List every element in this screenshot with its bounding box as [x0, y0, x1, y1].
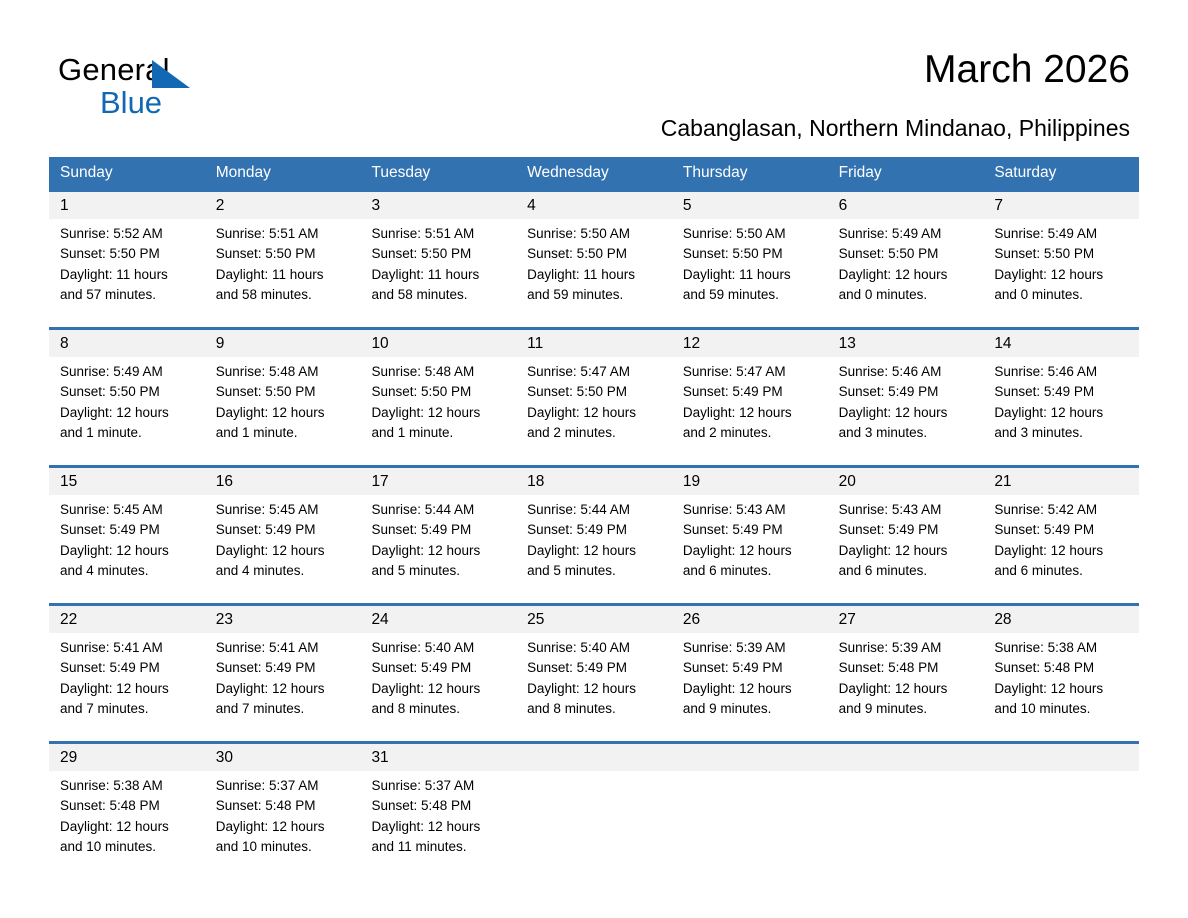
daylight-text-line1: Daylight: 12 hours: [60, 403, 194, 423]
day-number: 18: [527, 468, 661, 495]
calendar-day-cell[interactable]: 14 Sunrise: 5:46 AM Sunset: 5:49 PM Dayl…: [983, 330, 1139, 465]
daylight-text-line1: Daylight: 12 hours: [216, 679, 350, 699]
sunset-text: Sunset: 5:50 PM: [371, 244, 505, 264]
sunset-text: Sunset: 5:48 PM: [994, 658, 1128, 678]
day-number: 9: [216, 330, 350, 357]
sunset-text: Sunset: 5:49 PM: [216, 520, 350, 540]
daylight-text-line1: Daylight: 12 hours: [683, 541, 817, 561]
page-title: March 2026: [924, 48, 1130, 92]
daylight-text-line2: and 6 minutes.: [994, 561, 1128, 581]
sunset-text: Sunset: 5:50 PM: [683, 244, 817, 264]
day-number: [527, 744, 661, 771]
calendar-day-cell[interactable]: 15 Sunrise: 5:45 AM Sunset: 5:49 PM Dayl…: [49, 468, 205, 603]
sunrise-text: Sunrise: 5:49 AM: [994, 224, 1128, 244]
calendar-day-cell[interactable]: 10 Sunrise: 5:48 AM Sunset: 5:50 PM Dayl…: [360, 330, 516, 465]
calendar-day-cell[interactable]: 22 Sunrise: 5:41 AM Sunset: 5:49 PM Dayl…: [49, 606, 205, 741]
sunrise-text: Sunrise: 5:40 AM: [371, 638, 505, 658]
daylight-text-line1: Daylight: 11 hours: [527, 265, 661, 285]
weekday-header-friday: Friday: [828, 157, 984, 189]
generalblue-logo[interactable]: General Blue: [58, 52, 258, 122]
day-number: 25: [527, 606, 661, 633]
sunrise-text: Sunrise: 5:47 AM: [683, 362, 817, 382]
daylight-text-line1: Daylight: 12 hours: [371, 541, 505, 561]
calendar-day-cell[interactable]: 8 Sunrise: 5:49 AM Sunset: 5:50 PM Dayli…: [49, 330, 205, 465]
calendar-day-cell[interactable]: 21 Sunrise: 5:42 AM Sunset: 5:49 PM Dayl…: [983, 468, 1139, 603]
day-number: 27: [839, 606, 973, 633]
calendar-day-cell[interactable]: 18 Sunrise: 5:44 AM Sunset: 5:49 PM Dayl…: [516, 468, 672, 603]
sunrise-text: Sunrise: 5:46 AM: [839, 362, 973, 382]
daylight-text-line2: and 3 minutes.: [839, 423, 973, 443]
calendar-day-cell[interactable]: 29 Sunrise: 5:38 AM Sunset: 5:48 PM Dayl…: [49, 744, 205, 870]
daylight-text-line2: and 10 minutes.: [994, 699, 1128, 719]
daylight-text-line2: and 59 minutes.: [527, 285, 661, 305]
logo-triangle-icon: [152, 60, 190, 88]
daylight-text-line2: and 9 minutes.: [839, 699, 973, 719]
sunrise-text: Sunrise: 5:39 AM: [683, 638, 817, 658]
daylight-text-line1: Daylight: 12 hours: [371, 403, 505, 423]
sunrise-text: Sunrise: 5:51 AM: [371, 224, 505, 244]
daylight-text-line1: Daylight: 12 hours: [60, 541, 194, 561]
daylight-text-line1: Daylight: 12 hours: [527, 541, 661, 561]
calendar-day-cell[interactable]: 28 Sunrise: 5:38 AM Sunset: 5:48 PM Dayl…: [983, 606, 1139, 741]
day-number: 5: [683, 192, 817, 219]
daylight-text-line2: and 6 minutes.: [839, 561, 973, 581]
sunset-text: Sunset: 5:49 PM: [994, 520, 1128, 540]
daylight-text-line2: and 58 minutes.: [216, 285, 350, 305]
daylight-text-line2: and 59 minutes.: [683, 285, 817, 305]
day-number: [683, 744, 817, 771]
sunrise-text: Sunrise: 5:48 AM: [216, 362, 350, 382]
sunrise-text: Sunrise: 5:42 AM: [994, 500, 1128, 520]
sunset-text: Sunset: 5:49 PM: [683, 382, 817, 402]
day-number: 24: [371, 606, 505, 633]
daylight-text-line2: and 1 minute.: [216, 423, 350, 443]
calendar-week-row: 29 Sunrise: 5:38 AM Sunset: 5:48 PM Dayl…: [49, 741, 1139, 870]
sunset-text: Sunset: 5:50 PM: [60, 382, 194, 402]
sunset-text: Sunset: 5:49 PM: [60, 520, 194, 540]
daylight-text-line1: Daylight: 12 hours: [683, 403, 817, 423]
calendar-day-cell-empty: [828, 744, 984, 870]
sunset-text: Sunset: 5:48 PM: [371, 796, 505, 816]
daylight-text-line2: and 8 minutes.: [371, 699, 505, 719]
sunset-text: Sunset: 5:49 PM: [994, 382, 1128, 402]
daylight-text-line1: Daylight: 12 hours: [371, 679, 505, 699]
day-number: 12: [683, 330, 817, 357]
day-number: 19: [683, 468, 817, 495]
day-number: 2: [216, 192, 350, 219]
daylight-text-line1: Daylight: 12 hours: [994, 541, 1128, 561]
sunrise-text: Sunrise: 5:50 AM: [527, 224, 661, 244]
sunrise-text: Sunrise: 5:43 AM: [683, 500, 817, 520]
sunset-text: Sunset: 5:49 PM: [839, 520, 973, 540]
daylight-text-line2: and 5 minutes.: [527, 561, 661, 581]
sunset-text: Sunset: 5:50 PM: [527, 244, 661, 264]
calendar-day-cell[interactable]: 9 Sunrise: 5:48 AM Sunset: 5:50 PM Dayli…: [205, 330, 361, 465]
daylight-text-line1: Daylight: 12 hours: [994, 403, 1128, 423]
calendar-day-cell[interactable]: 19 Sunrise: 5:43 AM Sunset: 5:49 PM Dayl…: [672, 468, 828, 603]
daylight-text-line1: Daylight: 12 hours: [839, 541, 973, 561]
daylight-text-line1: Daylight: 11 hours: [216, 265, 350, 285]
calendar-day-cell[interactable]: 5 Sunrise: 5:50 AM Sunset: 5:50 PM Dayli…: [672, 192, 828, 327]
sunset-text: Sunset: 5:50 PM: [994, 244, 1128, 264]
sunset-text: Sunset: 5:50 PM: [60, 244, 194, 264]
daylight-text-line1: Daylight: 11 hours: [60, 265, 194, 285]
daylight-text-line2: and 1 minute.: [60, 423, 194, 443]
day-number: 16: [216, 468, 350, 495]
daylight-text-line2: and 6 minutes.: [683, 561, 817, 581]
calendar-day-cell[interactable]: 7 Sunrise: 5:49 AM Sunset: 5:50 PM Dayli…: [983, 192, 1139, 327]
calendar-day-cell[interactable]: 20 Sunrise: 5:43 AM Sunset: 5:49 PM Dayl…: [828, 468, 984, 603]
calendar-day-cell[interactable]: 11 Sunrise: 5:47 AM Sunset: 5:50 PM Dayl…: [516, 330, 672, 465]
sunrise-text: Sunrise: 5:49 AM: [839, 224, 973, 244]
daylight-text-line1: Daylight: 12 hours: [527, 679, 661, 699]
sunrise-text: Sunrise: 5:40 AM: [527, 638, 661, 658]
daylight-text-line2: and 7 minutes.: [60, 699, 194, 719]
calendar-week-row: 8 Sunrise: 5:49 AM Sunset: 5:50 PM Dayli…: [49, 327, 1139, 465]
day-number: 7: [994, 192, 1128, 219]
day-number: 17: [371, 468, 505, 495]
calendar-day-cell[interactable]: 27 Sunrise: 5:39 AM Sunset: 5:48 PM Dayl…: [828, 606, 984, 741]
calendar-day-cell-empty: [983, 744, 1139, 870]
daylight-text-line2: and 57 minutes.: [60, 285, 194, 305]
sunset-text: Sunset: 5:50 PM: [527, 382, 661, 402]
daylight-text-line2: and 1 minute.: [371, 423, 505, 443]
sunrise-text: Sunrise: 5:45 AM: [60, 500, 194, 520]
calendar-day-cell[interactable]: 3 Sunrise: 5:51 AM Sunset: 5:50 PM Dayli…: [360, 192, 516, 327]
day-number: 31: [371, 744, 505, 771]
sunset-text: Sunset: 5:49 PM: [371, 658, 505, 678]
daylight-text-line2: and 0 minutes.: [839, 285, 973, 305]
daylight-text-line2: and 9 minutes.: [683, 699, 817, 719]
weekday-header-monday: Monday: [205, 157, 361, 189]
weekday-header-row: Sunday Monday Tuesday Wednesday Thursday…: [49, 157, 1139, 189]
sunrise-text: Sunrise: 5:41 AM: [216, 638, 350, 658]
daylight-text-line1: Daylight: 12 hours: [683, 679, 817, 699]
sunset-text: Sunset: 5:50 PM: [216, 244, 350, 264]
sunset-text: Sunset: 5:50 PM: [216, 382, 350, 402]
calendar-day-cell[interactable]: 31 Sunrise: 5:37 AM Sunset: 5:48 PM Dayl…: [360, 744, 516, 870]
calendar-day-cell[interactable]: 25 Sunrise: 5:40 AM Sunset: 5:49 PM Dayl…: [516, 606, 672, 741]
daylight-text-line1: Daylight: 12 hours: [371, 817, 505, 837]
daylight-text-line2: and 8 minutes.: [527, 699, 661, 719]
page-header: General Blue March 2026 Cabanglasan, Nor…: [0, 0, 1188, 155]
weekday-header-wednesday: Wednesday: [516, 157, 672, 189]
calendar-day-cell[interactable]: 13 Sunrise: 5:46 AM Sunset: 5:49 PM Dayl…: [828, 330, 984, 465]
daylight-text-line1: Daylight: 12 hours: [839, 265, 973, 285]
daylight-text-line2: and 5 minutes.: [371, 561, 505, 581]
daylight-text-line1: Daylight: 12 hours: [839, 403, 973, 423]
day-number: 20: [839, 468, 973, 495]
day-number: 3: [371, 192, 505, 219]
sunrise-text: Sunrise: 5:48 AM: [371, 362, 505, 382]
sunset-text: Sunset: 5:50 PM: [839, 244, 973, 264]
sunrise-text: Sunrise: 5:41 AM: [60, 638, 194, 658]
sunset-text: Sunset: 5:49 PM: [683, 520, 817, 540]
daylight-text-line1: Daylight: 12 hours: [216, 541, 350, 561]
sunrise-text: Sunrise: 5:39 AM: [839, 638, 973, 658]
sunrise-text: Sunrise: 5:46 AM: [994, 362, 1128, 382]
daylight-text-line2: and 2 minutes.: [527, 423, 661, 443]
sunrise-text: Sunrise: 5:37 AM: [216, 776, 350, 796]
sunrise-text: Sunrise: 5:38 AM: [60, 776, 194, 796]
calendar-table: Sunday Monday Tuesday Wednesday Thursday…: [49, 157, 1139, 870]
daylight-text-line1: Daylight: 11 hours: [371, 265, 505, 285]
sunrise-text: Sunrise: 5:43 AM: [839, 500, 973, 520]
day-number: 23: [216, 606, 350, 633]
day-number: 21: [994, 468, 1128, 495]
calendar-day-cell-empty: [672, 744, 828, 870]
daylight-text-line2: and 11 minutes.: [371, 837, 505, 857]
calendar-day-cell-empty: [516, 744, 672, 870]
daylight-text-line2: and 10 minutes.: [216, 837, 350, 857]
day-number: 30: [216, 744, 350, 771]
weekday-header-sunday: Sunday: [49, 157, 205, 189]
sunrise-text: Sunrise: 5:44 AM: [371, 500, 505, 520]
calendar-week-row: 1 Sunrise: 5:52 AM Sunset: 5:50 PM Dayli…: [49, 189, 1139, 327]
sunset-text: Sunset: 5:48 PM: [60, 796, 194, 816]
calendar-week-row: 15 Sunrise: 5:45 AM Sunset: 5:49 PM Dayl…: [49, 465, 1139, 603]
calendar-day-cell[interactable]: 26 Sunrise: 5:39 AM Sunset: 5:49 PM Dayl…: [672, 606, 828, 741]
sunrise-text: Sunrise: 5:47 AM: [527, 362, 661, 382]
sunrise-text: Sunrise: 5:45 AM: [216, 500, 350, 520]
daylight-text-line1: Daylight: 12 hours: [994, 679, 1128, 699]
sunrise-text: Sunrise: 5:50 AM: [683, 224, 817, 244]
day-number: 22: [60, 606, 194, 633]
sunset-text: Sunset: 5:49 PM: [371, 520, 505, 540]
calendar-day-cell[interactable]: 23 Sunrise: 5:41 AM Sunset: 5:49 PM Dayl…: [205, 606, 361, 741]
day-number: 28: [994, 606, 1128, 633]
calendar-day-cell[interactable]: 4 Sunrise: 5:50 AM Sunset: 5:50 PM Dayli…: [516, 192, 672, 327]
daylight-text-line1: Daylight: 12 hours: [994, 265, 1128, 285]
daylight-text-line1: Daylight: 12 hours: [216, 403, 350, 423]
day-number: 8: [60, 330, 194, 357]
weekday-header-tuesday: Tuesday: [360, 157, 516, 189]
sunset-text: Sunset: 5:48 PM: [216, 796, 350, 816]
weekday-header-thursday: Thursday: [672, 157, 828, 189]
calendar-day-cell[interactable]: 24 Sunrise: 5:40 AM Sunset: 5:49 PM Dayl…: [360, 606, 516, 741]
daylight-text-line2: and 58 minutes.: [371, 285, 505, 305]
day-number: 26: [683, 606, 817, 633]
sunset-text: Sunset: 5:49 PM: [527, 520, 661, 540]
calendar-day-cell[interactable]: 1 Sunrise: 5:52 AM Sunset: 5:50 PM Dayli…: [49, 192, 205, 327]
daylight-text-line2: and 4 minutes.: [60, 561, 194, 581]
day-number: [994, 744, 1128, 771]
day-number: 4: [527, 192, 661, 219]
weekday-header-saturday: Saturday: [983, 157, 1139, 189]
daylight-text-line2: and 0 minutes.: [994, 285, 1128, 305]
daylight-text-line1: Daylight: 12 hours: [839, 679, 973, 699]
daylight-text-line1: Daylight: 11 hours: [683, 265, 817, 285]
calendar-day-cell[interactable]: 17 Sunrise: 5:44 AM Sunset: 5:49 PM Dayl…: [360, 468, 516, 603]
sunset-text: Sunset: 5:49 PM: [60, 658, 194, 678]
daylight-text-line2: and 4 minutes.: [216, 561, 350, 581]
sunrise-text: Sunrise: 5:49 AM: [60, 362, 194, 382]
calendar-day-cell[interactable]: 12 Sunrise: 5:47 AM Sunset: 5:49 PM Dayl…: [672, 330, 828, 465]
sunset-text: Sunset: 5:49 PM: [216, 658, 350, 678]
sunset-text: Sunset: 5:48 PM: [839, 658, 973, 678]
daylight-text-line1: Daylight: 12 hours: [527, 403, 661, 423]
day-number: 13: [839, 330, 973, 357]
calendar-day-cell[interactable]: 30 Sunrise: 5:37 AM Sunset: 5:48 PM Dayl…: [205, 744, 361, 870]
daylight-text-line1: Daylight: 12 hours: [60, 679, 194, 699]
sunset-text: Sunset: 5:49 PM: [527, 658, 661, 678]
sunset-text: Sunset: 5:50 PM: [371, 382, 505, 402]
daylight-text-line2: and 2 minutes.: [683, 423, 817, 443]
day-number: 14: [994, 330, 1128, 357]
daylight-text-line1: Daylight: 12 hours: [60, 817, 194, 837]
page-subtitle: Cabanglasan, Northern Mindanao, Philippi…: [661, 115, 1130, 142]
sunrise-text: Sunrise: 5:38 AM: [994, 638, 1128, 658]
day-number: 1: [60, 192, 194, 219]
calendar-week-row: 22 Sunrise: 5:41 AM Sunset: 5:49 PM Dayl…: [49, 603, 1139, 741]
day-number: 11: [527, 330, 661, 357]
daylight-text-line2: and 7 minutes.: [216, 699, 350, 719]
sunset-text: Sunset: 5:49 PM: [839, 382, 973, 402]
daylight-text-line1: Daylight: 12 hours: [216, 817, 350, 837]
sunrise-text: Sunrise: 5:52 AM: [60, 224, 194, 244]
calendar-day-cell[interactable]: 2 Sunrise: 5:51 AM Sunset: 5:50 PM Dayli…: [205, 192, 361, 327]
day-number: 15: [60, 468, 194, 495]
sunrise-text: Sunrise: 5:37 AM: [371, 776, 505, 796]
sunset-text: Sunset: 5:49 PM: [683, 658, 817, 678]
daylight-text-line2: and 10 minutes.: [60, 837, 194, 857]
sunrise-text: Sunrise: 5:51 AM: [216, 224, 350, 244]
calendar-page: General Blue March 2026 Cabanglasan, Nor…: [0, 0, 1188, 918]
sunrise-text: Sunrise: 5:44 AM: [527, 500, 661, 520]
calendar-day-cell[interactable]: 16 Sunrise: 5:45 AM Sunset: 5:49 PM Dayl…: [205, 468, 361, 603]
calendar-day-cell[interactable]: 6 Sunrise: 5:49 AM Sunset: 5:50 PM Dayli…: [828, 192, 984, 327]
logo-text-blue: Blue: [100, 85, 162, 121]
day-number: 10: [371, 330, 505, 357]
day-number: [839, 744, 973, 771]
day-number: 6: [839, 192, 973, 219]
day-number: 29: [60, 744, 194, 771]
daylight-text-line2: and 3 minutes.: [994, 423, 1128, 443]
